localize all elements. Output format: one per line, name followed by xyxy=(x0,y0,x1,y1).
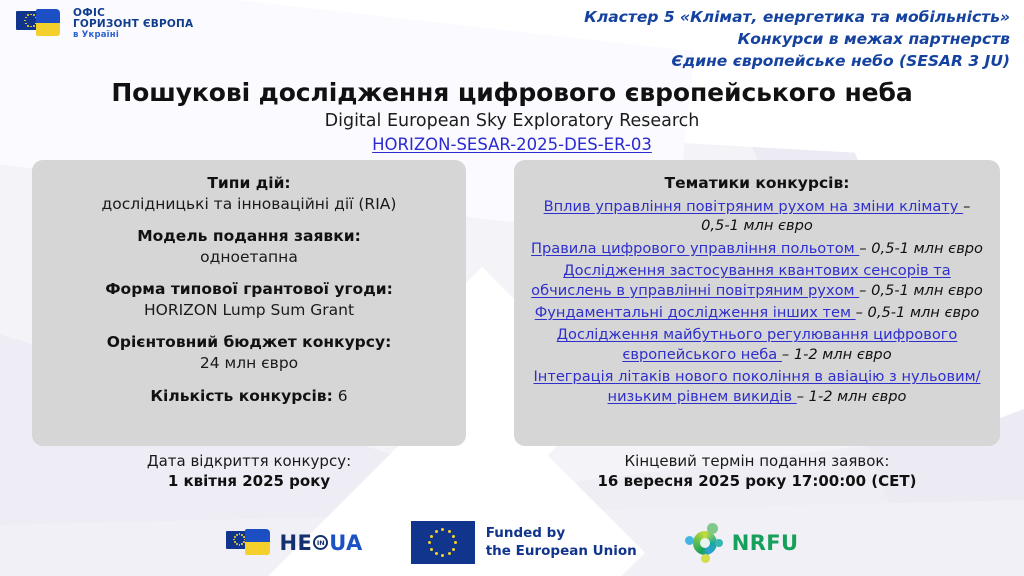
he-in-ua-logo: HE IN UA xyxy=(226,528,363,558)
molecule-network-icon xyxy=(685,523,725,563)
funded-line-1: Funded by xyxy=(486,525,637,543)
cluster-line-1: Кластер 5 «Клімат, енергетика та мобільн… xyxy=(584,6,1010,28)
call-detail-value: 24 млн євро xyxy=(48,353,450,373)
call-detail-row: Форма типової грантової угоди:HORIZON Lu… xyxy=(48,280,450,320)
call-detail-value: 6 xyxy=(333,387,348,405)
topic-link[interactable]: Фундаментальні дослідження інших тем xyxy=(535,304,856,321)
call-detail-key: Орієнтовний бюджет конкурсу: xyxy=(48,333,450,353)
topic-link[interactable]: Інтеграція літаків нового покоління в ав… xyxy=(533,368,980,404)
call-details-panel: Типи дій:дослідницькі та інноваційні дії… xyxy=(32,160,466,446)
logo-line-3: в Україні xyxy=(73,31,193,40)
topic-link[interactable]: Правила цифрового управління польотом xyxy=(531,240,859,257)
call-identifier-link[interactable]: HORIZON-SESAR-2025-DES-ER-03 xyxy=(372,135,652,154)
in-ring-label: IN xyxy=(317,539,325,547)
topics-heading: Тематики конкурсів: xyxy=(530,174,984,192)
topic-link[interactable]: Вплив управління повітряним рухом на змі… xyxy=(544,198,963,215)
footer-logos: HE IN UA Funded by the European Union NR… xyxy=(0,521,1024,564)
cluster-line-2: Конкурси в межах партнерств xyxy=(584,28,1010,50)
topic-budget: – 0,5-1 млн євро xyxy=(859,240,983,257)
ua-flag-icon xyxy=(245,529,270,555)
topic-link[interactable]: Дослідження майбутнього регулювання цифр… xyxy=(557,326,958,362)
call-detail-value: одноетапна xyxy=(48,247,450,267)
call-detail-key: Модель подання заявки: xyxy=(48,227,450,247)
call-details-list: Типи дій:дослідницькі та інноваційні дії… xyxy=(32,160,466,407)
horizon-europe-office-logo: ОФІС ГОРИЗОНТ ЄВРОПА в Україні xyxy=(16,7,193,41)
cluster-header: Кластер 5 «Клімат, енергетика та мобільн… xyxy=(584,6,1010,72)
deadline-label: Кінцевий термін подання заявок: xyxy=(514,452,1000,470)
topics-list: Вплив управління повітряним рухом на змі… xyxy=(530,197,984,406)
ua-flag-icon xyxy=(36,9,60,36)
deadline-value: 16 вересня 2025 року 17:00:00 (CET) xyxy=(514,472,1000,490)
call-detail-key: Форма типової грантової угоди: xyxy=(48,280,450,300)
call-detail-key: Кількість конкурсів: xyxy=(150,387,332,405)
title-block: Пошукові дослідження цифрового європейсь… xyxy=(0,78,1024,154)
in-ring-icon: IN xyxy=(313,535,328,550)
topic-item: Дослідження застосування квантових сенсо… xyxy=(530,261,984,300)
call-detail-row: Орієнтовний бюджет конкурсу:24 млн євро xyxy=(48,333,450,373)
topic-item: Інтеграція літаків нового покоління в ав… xyxy=(530,367,984,406)
topic-budget: – 0,5-1 млн євро xyxy=(859,282,983,299)
opening-date-block: Дата відкриття конкурсу: 1 квітня 2025 р… xyxy=(32,452,466,490)
he-ua-wordmark: HE IN UA xyxy=(280,531,363,555)
call-detail-row: Типи дій:дослідницькі та інноваційні дії… xyxy=(48,174,450,214)
nrfu-wordmark: NRFU xyxy=(732,531,799,555)
opening-date-label: Дата відкриття конкурсу: xyxy=(32,452,466,470)
deadline-block: Кінцевий термін подання заявок: 16 верес… xyxy=(514,452,1000,490)
topic-item: Фундаментальні дослідження інших тем – 0… xyxy=(530,303,984,322)
call-detail-value: HORIZON Lump Sum Grant xyxy=(48,300,450,320)
he-ua-part-1: HE xyxy=(280,531,313,555)
topic-item: Дослідження майбутнього регулювання цифр… xyxy=(530,325,984,364)
page-title-ua: Пошукові дослідження цифрового європейсь… xyxy=(0,78,1024,107)
logo-text: ОФІС ГОРИЗОНТ ЄВРОПА в Україні xyxy=(73,8,193,40)
nrfu-logo: NRFU xyxy=(685,523,799,563)
topic-budget: – 1-2 млн євро xyxy=(797,388,907,405)
call-detail-key: Типи дій: xyxy=(48,174,450,194)
he-ua-flags xyxy=(226,528,272,558)
eu-flag-icon xyxy=(411,521,475,564)
topics-panel: Тематики конкурсів: Вплив управління пов… xyxy=(514,160,1000,446)
funded-line-2: the European Union xyxy=(486,543,637,561)
slide-canvas: ОФІС ГОРИЗОНТ ЄВРОПА в Україні Кластер 5… xyxy=(0,0,1024,576)
page-title-en: Digital European Sky Exploratory Researc… xyxy=(0,111,1024,131)
call-detail-row: Кількість конкурсів: 6 xyxy=(48,386,450,407)
flags-group xyxy=(16,7,64,41)
he-ua-part-2: UA xyxy=(329,531,362,555)
topic-budget: – 1-2 млн євро xyxy=(782,346,892,363)
opening-date-value: 1 квітня 2025 року xyxy=(32,472,466,490)
topic-item: Вплив управління повітряним рухом на змі… xyxy=(530,197,984,236)
funded-by-eu-logo: Funded by the European Union xyxy=(411,521,637,564)
topic-budget: – 0,5-1 млн євро xyxy=(856,304,980,321)
topic-item: Правила цифрового управління польотом – … xyxy=(530,239,984,258)
topics-inner: Тематики конкурсів: Вплив управління пов… xyxy=(514,160,1000,406)
call-detail-value: дослідницькі та інноваційні дії (RIA) xyxy=(48,194,450,214)
call-detail-row: Модель подання заявки:одноетапна xyxy=(48,227,450,267)
funded-by-eu-text: Funded by the European Union xyxy=(486,525,637,560)
cluster-line-3: Єдине європейське небо (SESAR 3 JU) xyxy=(584,50,1010,72)
logo-line-2: ГОРИЗОНТ ЄВРОПА xyxy=(73,19,193,30)
